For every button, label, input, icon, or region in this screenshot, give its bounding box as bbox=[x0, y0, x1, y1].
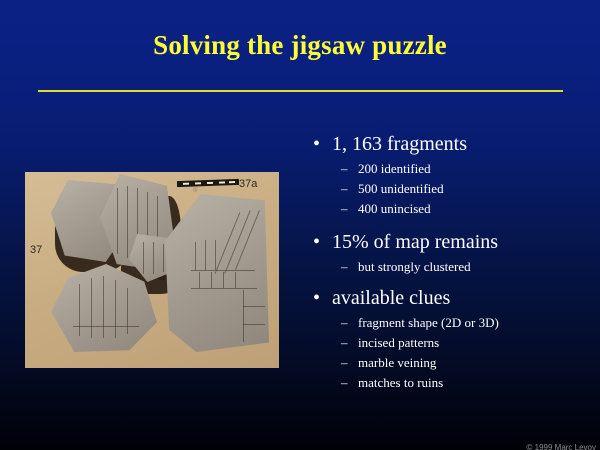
sub-bullet-text: incised patterns bbox=[358, 335, 439, 350]
incised-line bbox=[211, 272, 212, 288]
sub-bullet-item: – marble veining bbox=[305, 353, 597, 373]
incised-line bbox=[127, 288, 128, 334]
photo-label-left: 37 bbox=[30, 244, 42, 256]
incised-line bbox=[143, 242, 144, 274]
sub-bullet-text: but strongly clustered bbox=[358, 259, 471, 274]
spacer bbox=[305, 277, 597, 285]
sub-bullet-text: marble veining bbox=[358, 355, 436, 370]
sub-bullet-item: – fragment shape (2D or 3D) bbox=[305, 313, 597, 333]
incised-line bbox=[163, 244, 164, 272]
sub-bullet-text: 200 identified bbox=[358, 161, 431, 176]
incised-line bbox=[103, 276, 104, 338]
sub-bullet-text: 500 unidentified bbox=[358, 181, 444, 196]
sub-bullet-text: 400 unincised bbox=[358, 201, 431, 216]
page-title: Solving the jigsaw puzzle bbox=[0, 28, 600, 62]
sub-bullet-text: fragment shape (2D or 3D) bbox=[358, 315, 499, 330]
incised-line bbox=[215, 240, 216, 270]
bullet-item: • 1, 163 fragments bbox=[305, 131, 597, 157]
sub-bullet-marker: – bbox=[341, 199, 348, 219]
incised-line bbox=[91, 278, 92, 338]
bullet-text: available clues bbox=[332, 287, 450, 309]
incised-line bbox=[79, 284, 80, 336]
incised-line bbox=[191, 288, 257, 289]
title-divider bbox=[38, 90, 563, 92]
incised-line bbox=[191, 270, 255, 271]
sub-bullet-marker: – bbox=[341, 353, 348, 373]
incised-line bbox=[243, 324, 265, 325]
incised-line bbox=[223, 272, 224, 288]
marble-fragments-photo: 37 37a bbox=[25, 172, 279, 368]
bullet-item: • 15% of map remains bbox=[305, 229, 597, 255]
sub-bullet-text: matches to ruins bbox=[358, 375, 443, 390]
incised-line bbox=[127, 186, 128, 258]
bullet-text: 15% of map remains bbox=[332, 231, 498, 253]
incised-line bbox=[117, 188, 118, 254]
sub-bullet-marker: – bbox=[341, 313, 348, 333]
photo-label-right: 37a bbox=[239, 178, 257, 190]
sub-bullet-item: – 500 unidentified bbox=[305, 179, 597, 199]
sub-bullet-marker: – bbox=[341, 179, 348, 199]
sub-bullet-marker: – bbox=[341, 333, 348, 353]
bullet-item: • available clues bbox=[305, 285, 597, 311]
sub-bullet-marker: – bbox=[341, 373, 348, 393]
sub-bullet-item: – 400 unincised bbox=[305, 199, 597, 219]
bullet-marker: • bbox=[313, 131, 320, 157]
incised-line bbox=[195, 242, 196, 270]
incised-line bbox=[199, 272, 200, 288]
sub-bullet-item: – but strongly clustered bbox=[305, 257, 597, 277]
slide: Solving the jigsaw puzzle bbox=[0, 0, 600, 450]
spacer bbox=[305, 219, 597, 229]
incised-line bbox=[243, 290, 244, 342]
incised-line bbox=[115, 280, 116, 338]
incised-line bbox=[235, 272, 236, 288]
incised-line bbox=[153, 242, 154, 274]
sub-bullet-marker: – bbox=[341, 159, 348, 179]
sub-bullet-item: – matches to ruins bbox=[305, 373, 597, 393]
incised-line bbox=[243, 306, 265, 307]
sub-bullet-item: – incised patterns bbox=[305, 333, 597, 353]
copyright-notice: © 1999 Marc Levoy bbox=[527, 443, 596, 450]
sub-bullet-marker: – bbox=[341, 257, 348, 277]
bullet-list: • 1, 163 fragments – 200 identified – 50… bbox=[305, 131, 597, 393]
bullet-marker: • bbox=[313, 229, 320, 255]
sub-bullet-item: – 200 identified bbox=[305, 159, 597, 179]
incised-line bbox=[205, 240, 206, 270]
bullet-text: 1, 163 fragments bbox=[332, 133, 467, 155]
bullet-marker: • bbox=[313, 285, 320, 311]
incised-line bbox=[73, 326, 139, 327]
